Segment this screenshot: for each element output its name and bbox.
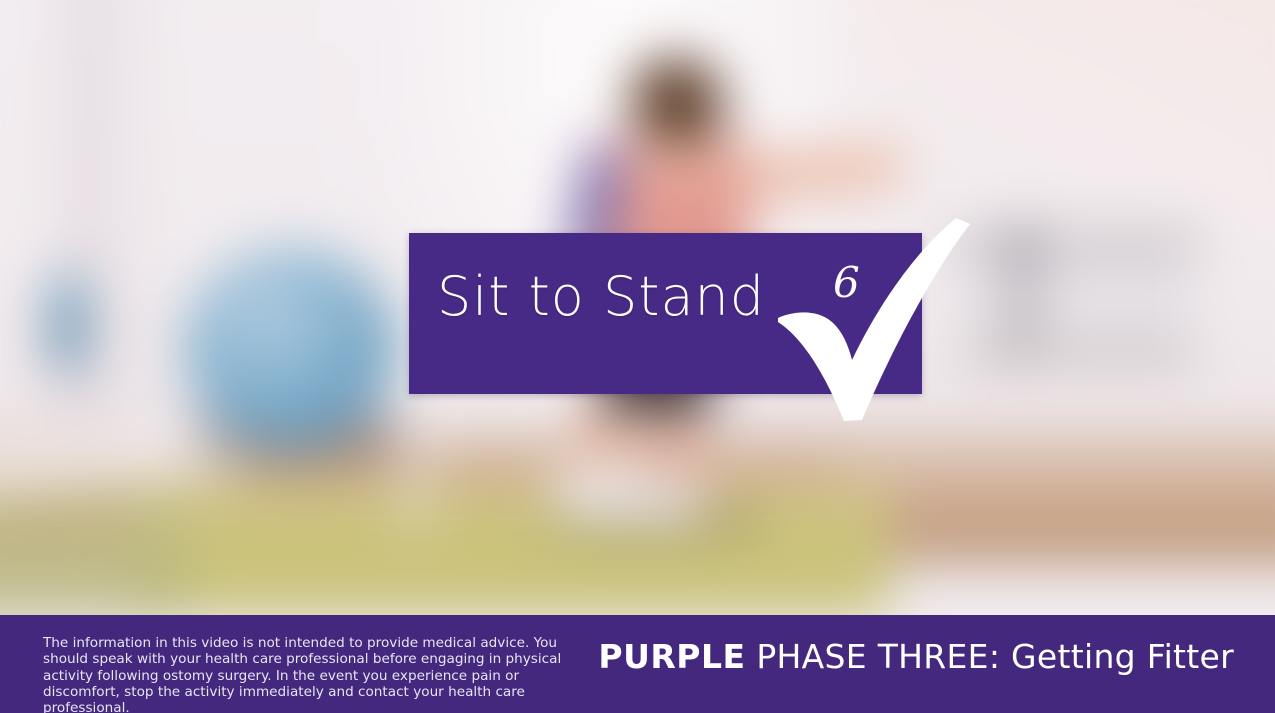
medical-disclaimer-text: The information in this video is not int… (43, 635, 578, 713)
phase-brand-label: PURPLE (598, 637, 745, 676)
bottom-info-bar: The information in this video is not int… (0, 615, 1275, 713)
wall-panel-left (60, 0, 170, 500)
person-shoe-right (626, 480, 708, 522)
bench-body (960, 240, 1195, 360)
video-frame: Sit to Stand 6 The information in this v… (0, 0, 1275, 713)
small-blue-object (48, 270, 88, 375)
phase-name-label: PHASE THREE: Getting Fitter (746, 637, 1234, 676)
floor-far-band (840, 428, 1275, 508)
phase-title: PURPLE PHASE THREE: Getting Fitter (598, 637, 1234, 676)
bench-shadow (965, 345, 1195, 367)
blue-exercise-ball (185, 248, 395, 448)
exercise-number-label: 6 (833, 262, 860, 304)
exercise-name-label: Sit to Stand (437, 270, 797, 324)
exercise-mat (130, 485, 890, 615)
bench-top (950, 230, 1200, 256)
bench-knob (1010, 226, 1036, 254)
exercise-mat-secondary (0, 492, 190, 615)
